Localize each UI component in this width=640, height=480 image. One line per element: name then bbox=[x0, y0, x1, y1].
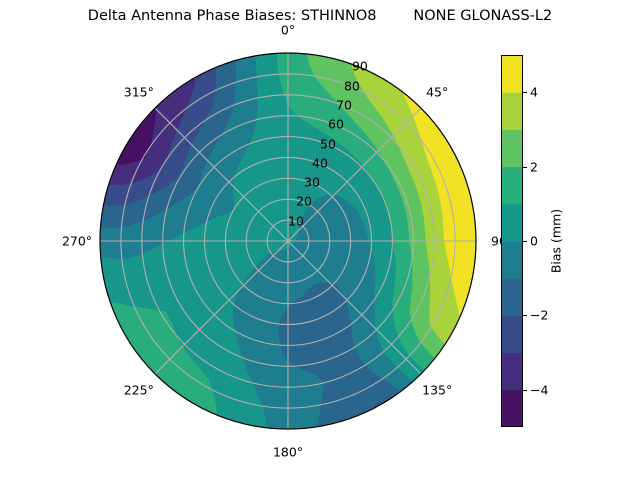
r-tick-label-80: 80 bbox=[344, 78, 360, 93]
r-tick-label-40: 40 bbox=[312, 155, 328, 170]
r-tick-label-20: 20 bbox=[296, 194, 312, 209]
colorbar-tick-mark bbox=[523, 167, 527, 168]
theta-tick-label-135: 135° bbox=[422, 383, 452, 398]
theta-tick-label-225: 225° bbox=[124, 383, 154, 398]
r-tick-label-90: 90 bbox=[352, 59, 368, 74]
polar-contour-plot bbox=[98, 51, 478, 431]
colorbar-tick-label: 2 bbox=[530, 159, 538, 174]
theta-tick-label-180: 180° bbox=[273, 445, 303, 460]
colorbar-tick-mark bbox=[523, 241, 527, 242]
colorbar-tick-label: −4 bbox=[530, 382, 548, 397]
polar-axes bbox=[98, 51, 478, 431]
colorbar-tick-label: 0 bbox=[530, 234, 538, 249]
colorbar-tick-mark bbox=[523, 92, 527, 93]
r-tick-label-60: 60 bbox=[328, 117, 344, 132]
colorbar-tick-label: −2 bbox=[530, 308, 548, 323]
colorbar-tick-mark bbox=[523, 315, 527, 316]
theta-tick-label-315: 315° bbox=[124, 84, 154, 99]
r-tick-label-50: 50 bbox=[320, 136, 336, 151]
figure-canvas: Delta Antenna Phase Biases: STHINNO8 NON… bbox=[0, 0, 640, 480]
theta-tick-label-0: 0° bbox=[281, 23, 295, 38]
colorbar bbox=[501, 55, 523, 427]
r-tick-label-10: 10 bbox=[288, 213, 304, 228]
colorbar-tick-label: 4 bbox=[530, 85, 538, 100]
colorbar-axis-label: Bias (mm) bbox=[549, 209, 564, 273]
theta-tick-label-270: 270° bbox=[62, 234, 92, 249]
r-tick-label-70: 70 bbox=[336, 97, 352, 112]
theta-tick-label-45: 45° bbox=[426, 84, 448, 99]
r-tick-label-30: 30 bbox=[304, 175, 320, 190]
colorbar-tick-mark bbox=[523, 390, 527, 391]
figure-title: Delta Antenna Phase Biases: STHINNO8 NON… bbox=[0, 8, 640, 24]
colorbar-gradient bbox=[501, 55, 523, 427]
